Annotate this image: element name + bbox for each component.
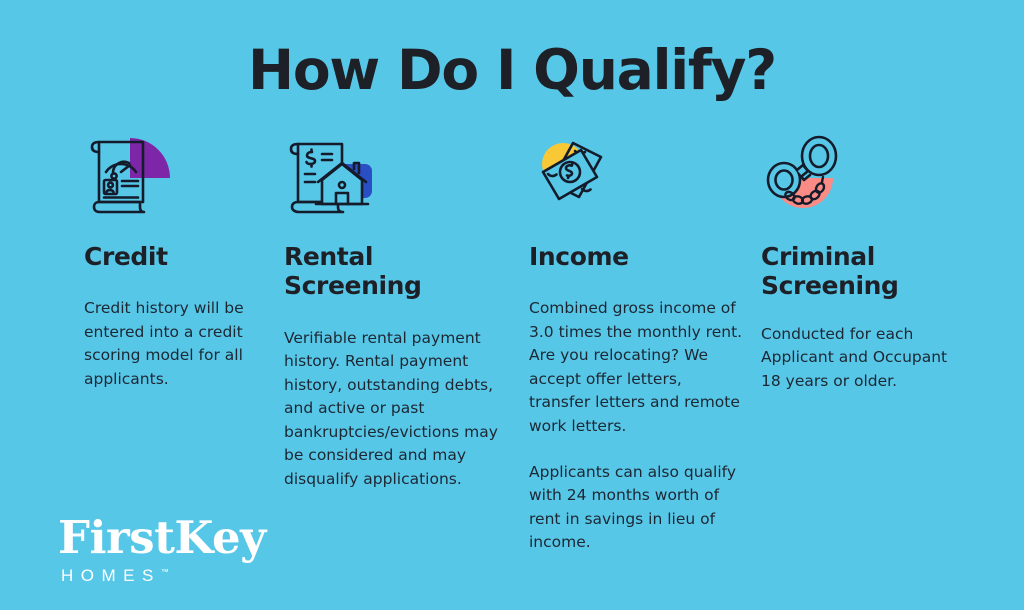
trademark-icon: ™ [161, 567, 169, 576]
column-body-rental-screening-0: Verifiable rental payment history. Renta… [284, 327, 511, 492]
column-heading-credit: Credit [84, 242, 266, 271]
criteria-column-income: Income Combined gross income of 3.0 time… [529, 130, 761, 555]
criteria-columns: Credit Credit history will be entered in… [84, 130, 956, 555]
logo-subtitle-text: HOMES [61, 566, 161, 585]
logo-wordmark: FirstKey [58, 515, 266, 560]
cash-banknotes-icon [529, 130, 639, 220]
column-heading-rental-screening: Rental Screening [284, 242, 511, 301]
column-body-criminal-screening-0: Conducted for each Applicant and Occupan… [761, 323, 956, 394]
criteria-column-criminal-screening: Criminal Screening Conducted for each Ap… [761, 130, 956, 393]
criteria-column-credit: Credit Credit history will be entered in… [84, 130, 284, 391]
credit-report-gauge-icon [84, 130, 194, 220]
rental-invoice-house-icon [284, 130, 394, 220]
column-heading-criminal-screening: Criminal Screening [761, 242, 956, 301]
handcuffs-icon [761, 130, 871, 220]
page-title: How Do I Qualify? [0, 42, 1024, 100]
column-body-income-1: Applicants can also qualify with 24 mont… [529, 461, 743, 555]
column-heading-income: Income [529, 242, 743, 271]
column-body-credit-0: Credit history will be entered into a cr… [84, 297, 266, 391]
qualify-infographic: How Do I Qualify? [0, 0, 1024, 610]
column-body-income-0: Combined gross income of 3.0 times the m… [529, 297, 743, 438]
criteria-column-rental-screening: Rental Screening Verifiable rental payme… [284, 130, 529, 491]
logo-subtitle: HOMES™ [61, 566, 266, 586]
firstkey-homes-logo: FirstKey HOMES™ [58, 515, 266, 586]
